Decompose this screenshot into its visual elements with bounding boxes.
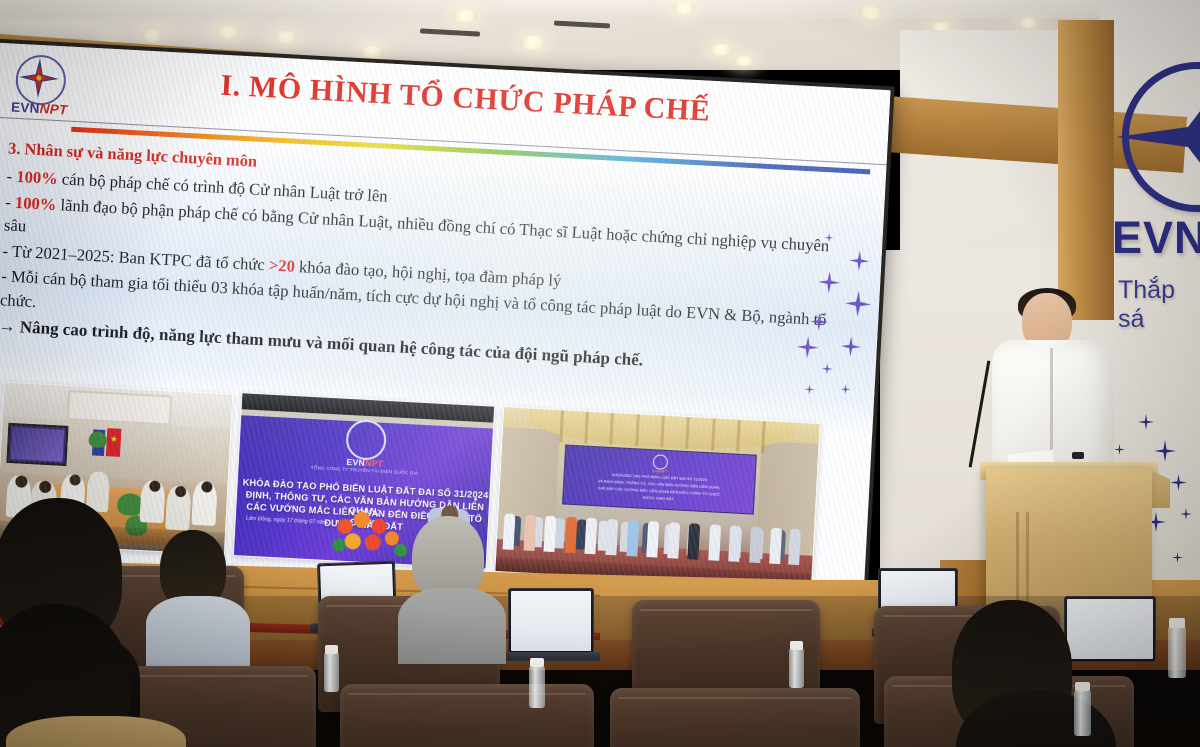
- audience-shoulder: [6, 716, 186, 747]
- ceiling-downlight: [1018, 18, 1038, 28]
- ceiling-downlight: [520, 36, 546, 49]
- evn-brand-text: EVNNPT: [2, 99, 77, 118]
- brand-npt: NPT: [39, 101, 68, 117]
- ceiling-downlight: [216, 26, 240, 38]
- water-bottle[interactable]: [529, 666, 545, 708]
- speaker-shirt-placket: [1050, 348, 1053, 466]
- ceiling-downlight: [274, 31, 298, 43]
- audience-laptop[interactable]: [1064, 596, 1156, 662]
- bottle-cap: [1075, 682, 1090, 691]
- ceiling-downlight: [858, 6, 884, 19]
- slide-title: I. MÔ HÌNH TỔ CHỨC PHÁP CHẾ: [85, 62, 846, 136]
- water-bottle[interactable]: [324, 652, 339, 692]
- ceiling-downlight: [360, 46, 384, 58]
- audience-shoulder: [146, 596, 250, 666]
- photo-flower-arrangement: [330, 504, 419, 564]
- brand-evn: EVN: [11, 100, 40, 117]
- audience-chair: [610, 688, 860, 747]
- logo-star-shape: [1116, 110, 1200, 164]
- water-bottle[interactable]: [1074, 690, 1091, 736]
- ceiling-downlight: [452, 10, 478, 22]
- logo-star-shape: [15, 54, 63, 102]
- audience-laptop-base[interactable]: [500, 652, 600, 661]
- slide-body-text: 3. Nhân sự và năng lực chuyên môn - 100%…: [0, 137, 852, 385]
- wood-column-right: [1058, 20, 1114, 320]
- evn-star-logo-icon: [345, 419, 387, 461]
- bottle-cap: [530, 658, 544, 667]
- conference-hall-scene: EVN Thắp sá: [0, 0, 1200, 747]
- wall-brand-text: EVN: [1112, 212, 1200, 264]
- audience-laptop[interactable]: [508, 588, 594, 654]
- evn-star-logo-icon: [652, 454, 668, 470]
- ceiling-downlight: [710, 44, 732, 55]
- bullet-strong: 100%: [14, 193, 56, 214]
- speaker-watch: [1072, 452, 1084, 459]
- audience-chair: [340, 684, 594, 747]
- ceiling-lip: [0, 0, 1200, 18]
- photo-led-backdrop: EVNNPT KHÓA ĐÀO TẠO PHỔ BIẾN LUẬT ĐẤT ĐA…: [562, 445, 757, 515]
- water-bottle[interactable]: [789, 648, 804, 688]
- bottle-cap: [790, 641, 803, 650]
- ceiling-downlight: [672, 2, 696, 14]
- photo-tv-screen: [6, 423, 68, 466]
- audience-shoulder: [398, 588, 506, 664]
- bullet-strong: 100%: [16, 167, 58, 188]
- evn-star-logo-icon: EVNNPT: [2, 53, 79, 123]
- bottle-cap: [325, 645, 338, 654]
- wall-slogan-text: Thắp sá: [1118, 276, 1200, 334]
- bottle-cap: [1169, 618, 1185, 628]
- evn-star-logo-icon: [1122, 62, 1200, 212]
- ceiling-downlight: [734, 56, 754, 66]
- slide-sparkle-decor: [768, 225, 879, 560]
- water-bottle[interactable]: [1168, 626, 1186, 678]
- bullet-strong: >20: [268, 255, 295, 275]
- ceiling-downlight: [140, 30, 164, 42]
